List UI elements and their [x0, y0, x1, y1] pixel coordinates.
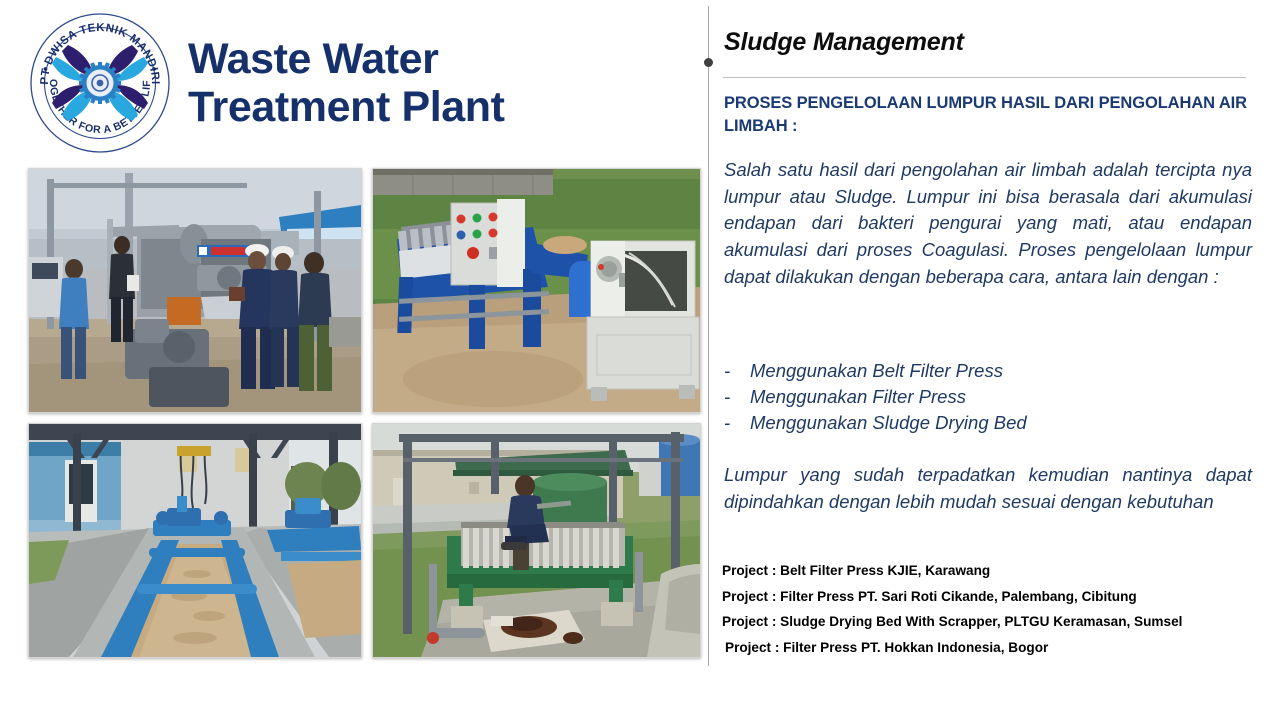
company-logo-icon: PT DWISA TEKNIK MANDIRI TOGETHER FOR A B… [28, 11, 172, 155]
section-heading: Sludge Management [724, 28, 1264, 57]
list-item-label: Menggunakan Sludge Drying Bed [750, 410, 1027, 436]
page-title-line-2: Treatment Plant [188, 83, 505, 131]
list-bullet-dash: - [724, 410, 744, 436]
vertical-accent-rule [708, 6, 709, 666]
list-item: - Menggunakan Sludge Drying Bed [724, 410, 1252, 436]
list-item: - Menggunakan Belt Filter Press [724, 358, 1252, 384]
project-entry: Project : Sludge Drying Bed With Scrappe… [722, 614, 1258, 631]
project-entry: Project : Filter Press PT. Sari Roti Cik… [722, 589, 1258, 606]
page-title: Waste Water Treatment Plant [188, 35, 505, 131]
left-panel: PT DWISA TEKNIK MANDIRI TOGETHER FOR A B… [0, 0, 700, 720]
project-entry: Project : Filter Press PT. Hokkan Indone… [722, 640, 1258, 657]
project-list: Project : Belt Filter Press KJIE, Karawa… [722, 563, 1258, 656]
blue-filter-press-photo [372, 168, 701, 413]
closing-paragraph: Lumpur yang sudah terpadatkan kemudian n… [724, 462, 1252, 515]
heading-divider [723, 77, 1246, 78]
methods-list: - Menggunakan Belt Filter Press - Menggu… [724, 358, 1252, 436]
list-bullet-dash: - [724, 358, 744, 384]
body-paragraph: Salah satu hasil dari pengolahan air lim… [724, 157, 1252, 291]
list-item-label: Menggunakan Belt Filter Press [750, 358, 1003, 384]
accent-dot-marker [704, 58, 713, 67]
list-item-label: Menggunakan Filter Press [750, 384, 966, 410]
slide-canvas: PT DWISA TEKNIK MANDIRI TOGETHER FOR A B… [0, 0, 1280, 720]
green-filter-press-photo [372, 423, 701, 658]
list-bullet-dash: - [724, 384, 744, 410]
list-item: - Menggunakan Filter Press [724, 384, 1252, 410]
subheading: PROSES PENGELOLAAN LUMPUR HASIL DARI PEN… [724, 92, 1252, 138]
belt-filter-press-site-photo [28, 168, 362, 413]
page-title-line-1: Waste Water [188, 35, 505, 83]
sludge-drying-bed-photo [28, 423, 362, 658]
brand-row: PT DWISA TEKNIK MANDIRI TOGETHER FOR A B… [28, 8, 688, 158]
project-entry: Project : Belt Filter Press KJIE, Karawa… [722, 563, 1258, 580]
